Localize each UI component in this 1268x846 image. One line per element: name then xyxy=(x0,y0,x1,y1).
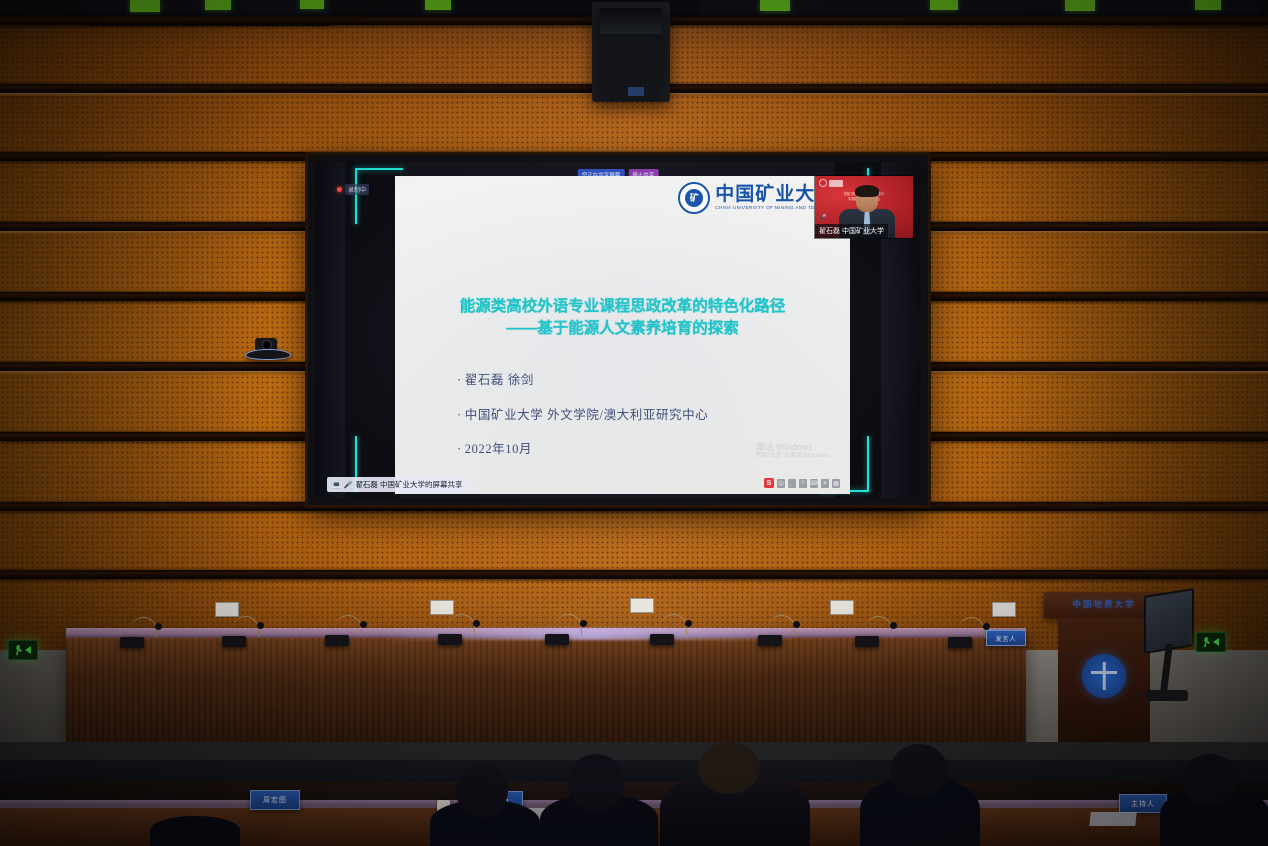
slide-title-line2: ——基于能源人文素养培育的探索 xyxy=(395,318,850,340)
table-microphone xyxy=(948,614,988,648)
ceiling-green-marker xyxy=(1065,0,1095,11)
ceiling-green-marker xyxy=(205,0,231,10)
table-microphone xyxy=(222,613,262,647)
slide-title: 能源类高校外语专业课程思政改革的特色化路径 ——基于能源人文素养培育的探索 xyxy=(395,296,850,341)
bullet-text: 2022年10月 xyxy=(465,442,532,456)
mic-capsule-icon xyxy=(155,623,162,630)
nameplate-text: 主持人 xyxy=(1131,799,1155,809)
mic-gooseneck xyxy=(660,614,687,635)
monitor-stand xyxy=(1160,644,1173,692)
audience-head xyxy=(568,754,624,812)
mic-base xyxy=(948,637,972,648)
list-item: ·翟石磊 徐剑 xyxy=(457,374,708,387)
bullet-marker: · xyxy=(457,408,462,422)
event-logo-icon xyxy=(819,179,843,187)
share-border-left xyxy=(355,168,357,224)
mic-capsule-icon xyxy=(685,620,692,627)
microphone-icon: 🎤 xyxy=(344,481,353,489)
nameplate: 周宏图 xyxy=(250,790,300,810)
ceiling-speaker xyxy=(592,2,670,102)
emergency-exit-sign xyxy=(1196,632,1226,652)
mic-gooseneck xyxy=(335,615,362,636)
mic-gooseneck xyxy=(448,614,475,635)
mic-capsule-icon xyxy=(793,621,800,628)
mic-base xyxy=(222,636,246,647)
record-dot-icon xyxy=(337,187,342,192)
bullet-text: 翟石磊 徐剑 xyxy=(465,373,534,387)
mic-gooseneck xyxy=(958,617,985,638)
slide-title-line1: 能源类高校外语专业课程思政改革的特色化路径 xyxy=(460,298,786,315)
speaker-video-tile[interactable]: 首届"双碳"背景下能源语言与 中国能源故事传播论坛 🎤 翟石磊 中国矿业大学 xyxy=(815,176,913,238)
document-paper xyxy=(1089,812,1136,826)
ceiling-green-marker xyxy=(425,0,451,10)
mic-capsule-icon xyxy=(360,621,367,628)
exit-arrow-icon xyxy=(1213,638,1219,646)
mic-capsule-icon xyxy=(890,622,897,629)
university-emblem-icon: 矿 xyxy=(678,182,710,214)
mic-base xyxy=(855,636,879,647)
table-microphone xyxy=(758,612,798,646)
sogou-ime-icon[interactable]: S xyxy=(764,478,774,488)
wall-mounted-camera xyxy=(245,338,289,364)
emergency-exit-sign xyxy=(8,640,38,660)
watermark-subtext: 转到"设置"以激活 Windows。 xyxy=(756,453,834,460)
mic-base xyxy=(545,634,569,645)
logo-block xyxy=(829,180,843,187)
audience-head xyxy=(1182,754,1238,806)
list-item: ·2022年10月 xyxy=(457,443,708,456)
table-microphone xyxy=(650,611,690,645)
mic-base xyxy=(650,634,674,645)
ceiling-green-marker xyxy=(130,0,160,12)
mic-capsule-icon xyxy=(580,620,587,627)
running-man-icon xyxy=(15,645,23,656)
wall-outlet xyxy=(992,602,1016,617)
microphone-icon: 🎤 xyxy=(819,214,859,238)
table-microphone xyxy=(438,611,478,645)
speaker-hair xyxy=(855,185,879,197)
logo-circle xyxy=(819,179,827,187)
exit-arrow-icon xyxy=(25,646,31,654)
meeting-left-dark-column xyxy=(345,162,400,498)
ime-skin-icon[interactable]: ☀ xyxy=(821,479,829,488)
wall-outlet xyxy=(830,600,854,615)
wall-groove xyxy=(0,570,1268,579)
camera-mount-plate xyxy=(245,349,291,360)
screen-surface: 录制中 您正在共享屏幕 停止共享 矿 中国矿业大学 CHINA xyxy=(315,162,921,498)
ceiling-green-marker xyxy=(760,0,790,11)
ceiling-green-marker xyxy=(300,0,324,9)
slide-bullet-list: ·翟石磊 徐剑 ·中国矿业大学 外文学院/澳大利亚研究中心 ·2022年10月 xyxy=(457,374,708,478)
ceiling-green-marker xyxy=(930,0,958,10)
mic-capsule-icon xyxy=(473,620,480,627)
mic-gooseneck xyxy=(232,616,259,637)
share-border-right-bottom xyxy=(867,436,869,492)
nameplate-text: 周宏图 xyxy=(263,795,287,805)
nameplate-speaker: 发言人 xyxy=(986,630,1026,646)
mic-gooseneck xyxy=(865,616,892,637)
table-microphone xyxy=(855,613,895,647)
nameplate-text: 发言人 xyxy=(995,634,1016,643)
mic-capsule-icon xyxy=(257,622,264,629)
conference-hall-photo: 录制中 您正在共享屏幕 停止共享 矿 中国矿业大学 CHINA xyxy=(0,0,1268,846)
ime-keyboard-icon[interactable]: ⌨ xyxy=(810,479,818,488)
screen-share-icon: 💻 xyxy=(332,481,341,489)
confidence-monitor xyxy=(1144,592,1192,712)
share-border-top-left xyxy=(355,168,403,170)
bullet-marker: · xyxy=(457,442,462,456)
audience-person xyxy=(150,816,240,846)
bullet-text: 中国矿业大学 外文学院/澳大利亚研究中心 xyxy=(465,408,709,422)
speaker-badge xyxy=(628,87,644,96)
mic-gooseneck xyxy=(130,617,157,638)
ime-punct-icon[interactable]: 、 xyxy=(788,479,796,488)
share-banner-text: 翟石磊 中国矿业大学的屏幕共享 xyxy=(355,479,462,490)
university-emblem-icon xyxy=(1082,654,1126,698)
table-microphone xyxy=(325,612,365,646)
speaker-horn xyxy=(600,8,662,34)
ceiling-green-marker xyxy=(1195,0,1221,10)
watermark-headline: 激活 Windows xyxy=(756,442,834,453)
monitor-foot xyxy=(1146,690,1188,701)
running-man-icon xyxy=(1203,637,1211,648)
mic-base xyxy=(120,637,144,648)
ime-mode-icon[interactable]: 中 xyxy=(777,479,785,488)
table-microphone xyxy=(120,614,160,648)
recording-indicator: 录制中 xyxy=(337,184,369,195)
mic-gooseneck xyxy=(555,614,582,635)
screen-share-banner: 💻 🎤 翟石磊 中国矿业大学的屏幕共享 xyxy=(327,477,468,492)
mic-gooseneck xyxy=(768,615,795,636)
mic-capsule-icon xyxy=(983,623,990,630)
emblem-glyph: 矿 xyxy=(690,194,699,203)
mic-base xyxy=(758,635,782,646)
ime-toolbar[interactable]: S 中 、 ☺ ⌨ ☀ ▦ xyxy=(764,478,840,488)
audience-head xyxy=(456,764,508,818)
audience-head xyxy=(698,742,760,794)
projection-screen: 录制中 您正在共享屏幕 停止共享 矿 中国矿业大学 CHINA xyxy=(308,155,928,505)
mic-base xyxy=(325,635,349,646)
recording-label: 录制中 xyxy=(345,184,369,195)
presentation-slide: 矿 中国矿业大学 CHINA UNIVERSITY OF MINING AND … xyxy=(395,176,850,494)
windows-activation-watermark: 激活 Windows 转到"设置"以激活 Windows。 xyxy=(756,442,834,460)
table-front-panel xyxy=(66,638,1026,742)
list-item: ·中国矿业大学 外文学院/澳大利亚研究中心 xyxy=(457,409,708,422)
ime-emoji-icon[interactable]: ☺ xyxy=(799,479,807,488)
speaker-name-badge: 🎤 翟石磊 中国矿业大学 xyxy=(815,224,888,238)
meeting-canvas: 录制中 您正在共享屏幕 停止共享 矿 中国矿业大学 CHINA xyxy=(315,162,921,498)
mic-base xyxy=(438,634,462,645)
ime-menu-icon[interactable]: ▦ xyxy=(832,479,840,488)
table-microphone xyxy=(545,611,585,645)
bullet-marker: · xyxy=(457,373,462,387)
audience-head xyxy=(890,744,948,798)
